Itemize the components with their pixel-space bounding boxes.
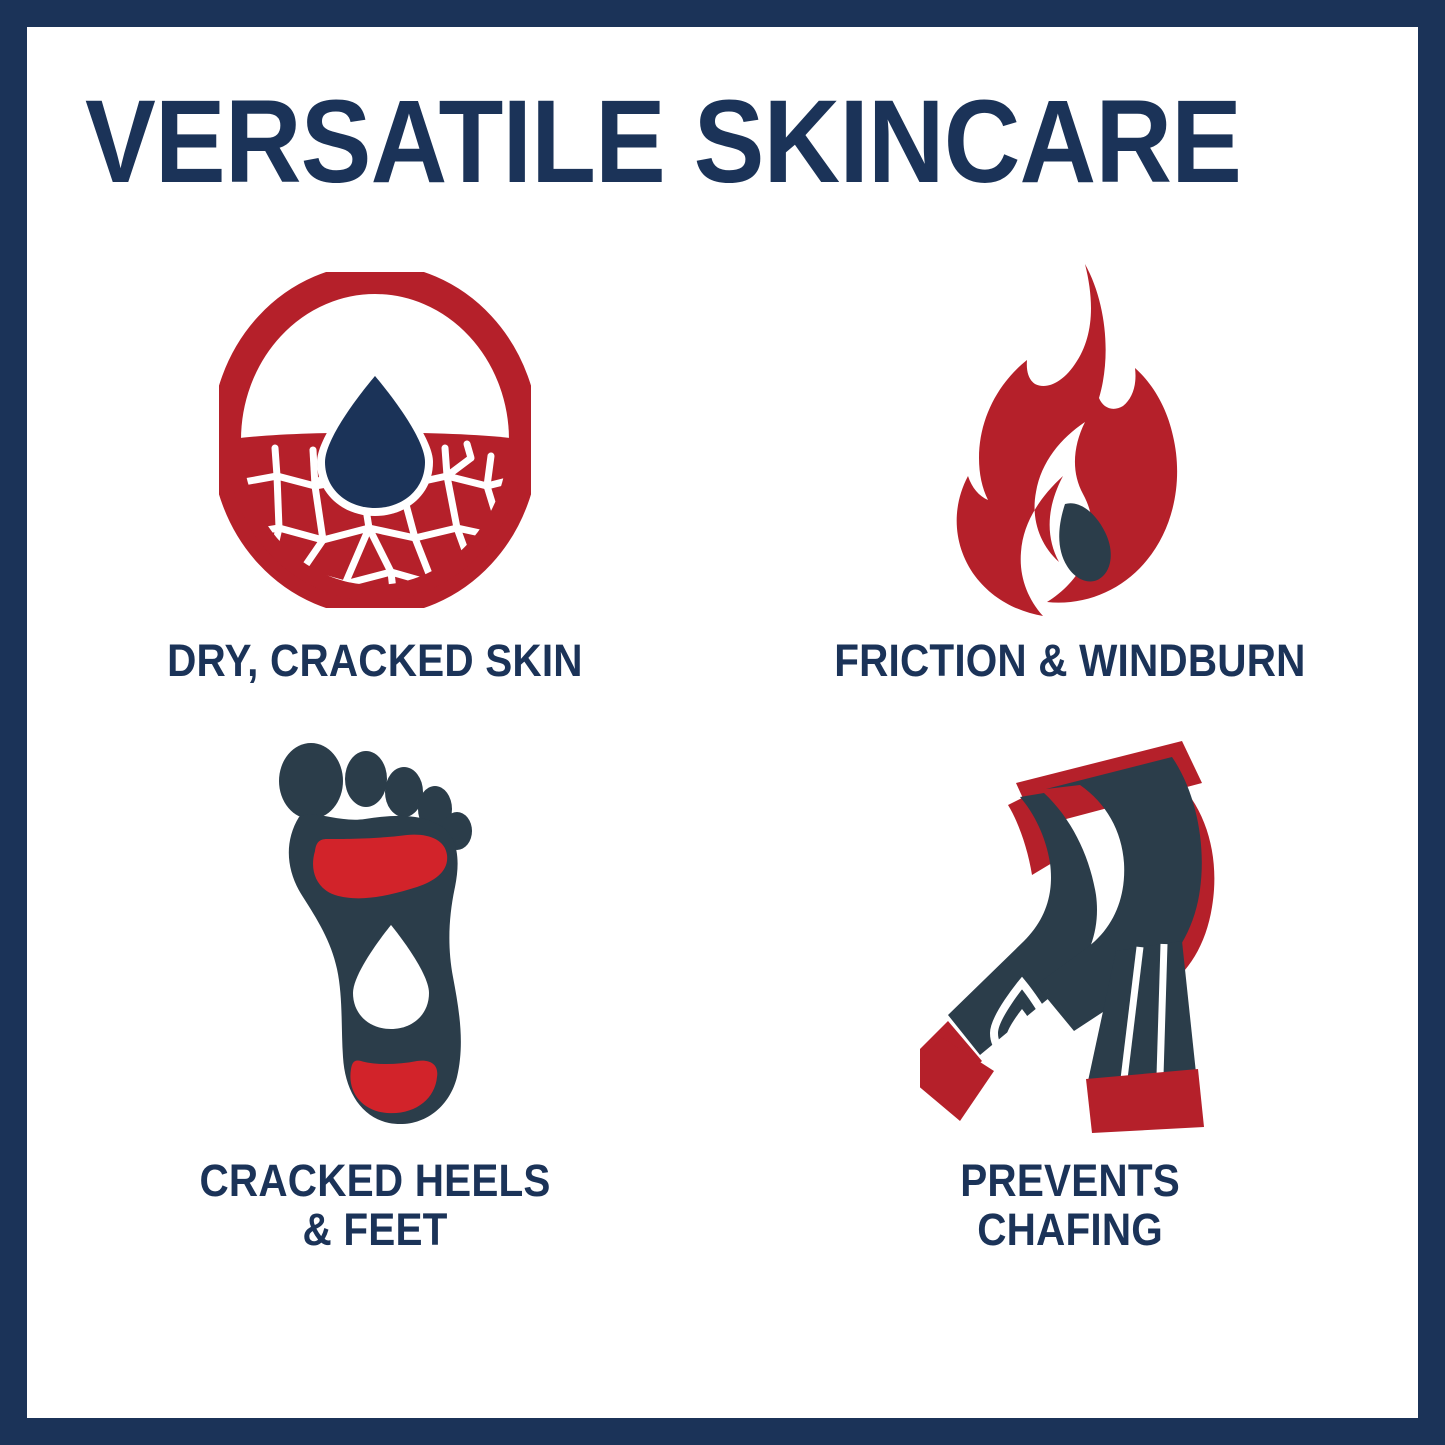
flame-icon [935, 260, 1205, 620]
benefit-label: CRACKED HEELS & FEET [199, 1157, 550, 1254]
benefit-cell-friction-windburn: FRICTION & WINDBURN [723, 255, 1419, 735]
benefit-label: PREVENTS CHAFING [960, 1157, 1180, 1254]
icon-container [269, 735, 481, 1135]
benefit-cell-dry-cracked-skin: DRY, CRACKED SKIN [27, 255, 723, 735]
benefit-label-line2: & FEET [199, 1206, 550, 1255]
toe-2 [345, 751, 387, 807]
shorts-cuff-right [1086, 1069, 1204, 1133]
water-droplet-icon [325, 376, 425, 508]
benefit-label-line1: FRICTION & WINDBURN [835, 635, 1306, 686]
poster-frame: VERSATILE SKINCARE [0, 0, 1445, 1445]
benefit-label-line2: CHAFING [960, 1206, 1180, 1255]
benefit-label-line1: PREVENTS [960, 1155, 1180, 1206]
dry-cracked-skin-icon [219, 272, 531, 608]
footprint-icon [269, 739, 481, 1131]
benefits-grid: DRY, CRACKED SKIN FRICTION & WINDBURN [27, 255, 1418, 1255]
benefit-label-line1: DRY, CRACKED SKIN [167, 635, 583, 686]
benefit-cell-cracked-heels-feet: CRACKED HEELS & FEET [27, 735, 723, 1255]
benefit-label: FRICTION & WINDBURN [835, 637, 1306, 686]
benefit-label: DRY, CRACKED SKIN [167, 637, 583, 686]
toe-3 [385, 767, 423, 817]
benefit-label-line1: CRACKED HEELS [199, 1155, 550, 1206]
toe-big [279, 743, 343, 819]
cycling-shorts-icon [920, 735, 1220, 1135]
benefit-cell-prevents-chafing: PREVENTS CHAFING [723, 735, 1419, 1255]
icon-container [219, 255, 531, 625]
page-title: VERSATILE SKINCARE [85, 83, 1241, 201]
icon-container [920, 735, 1220, 1135]
icon-container [935, 255, 1205, 625]
